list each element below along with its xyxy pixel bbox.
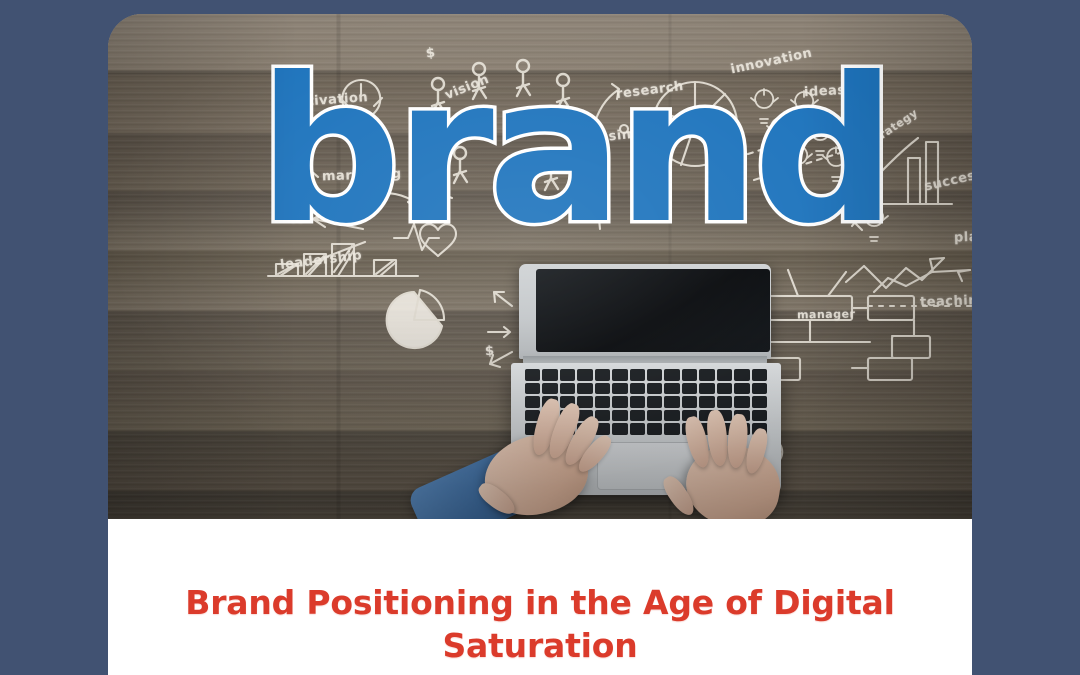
- hero-image: motivationvisionresearchinnovationideasb…: [108, 14, 972, 519]
- caption-panel: Brand Positioning in the Age of Digital …: [108, 519, 972, 675]
- article-card: motivationvisionresearchinnovationideasb…: [108, 14, 972, 675]
- article-title: Brand Positioning in the Age of Digital …: [140, 581, 940, 667]
- hero-vignette: [108, 14, 972, 519]
